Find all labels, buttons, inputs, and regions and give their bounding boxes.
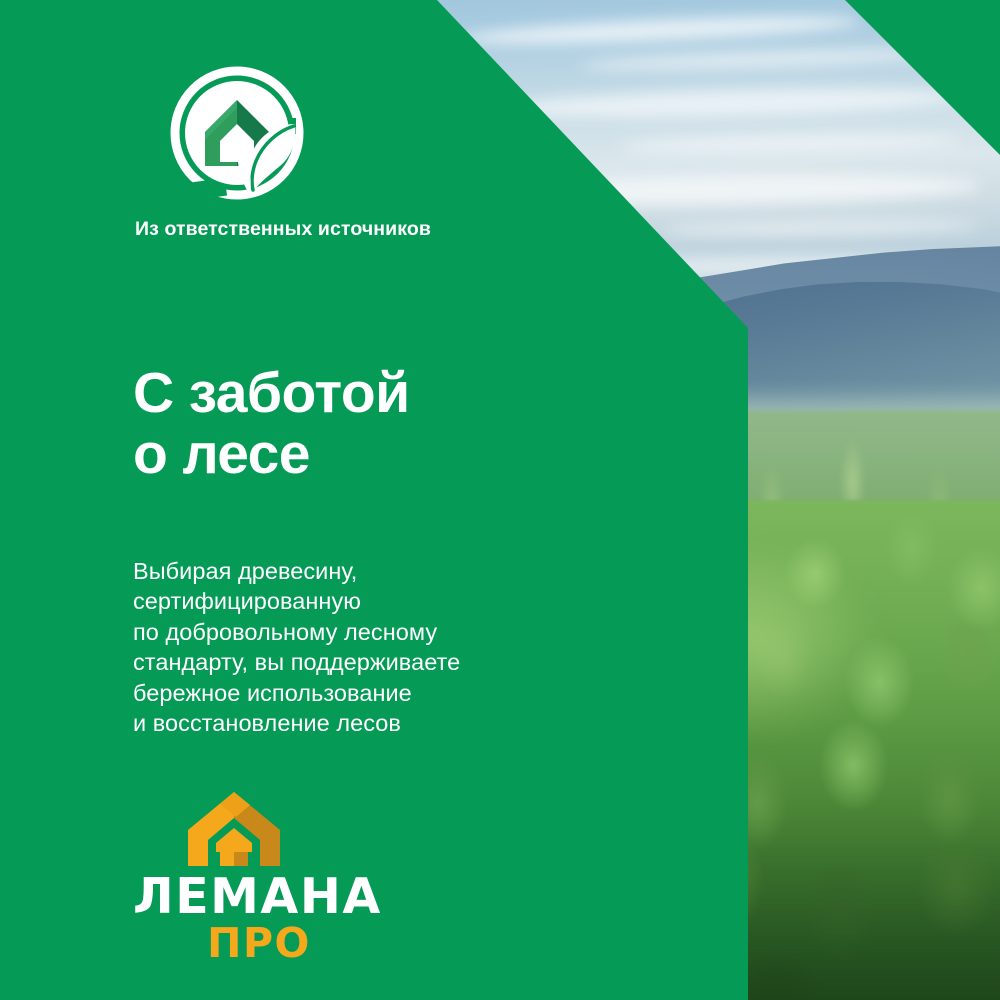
brand-lockup: ЛЕМАНА ПРО	[133, 790, 382, 964]
house-with-leaf-in-circle-icon	[166, 62, 308, 204]
body-text: Выбирая древесину, сертифицированную по …	[133, 556, 460, 739]
brand-name: ЛЕМАНА	[133, 872, 382, 921]
brand-suffix: ПРО	[173, 923, 345, 964]
certification-caption: Из ответственных источников	[133, 218, 433, 241]
poster-root: Из ответственных источников С заботой о …	[0, 0, 1000, 1000]
certification-badge: Из ответственных источников	[133, 62, 433, 241]
page-title: С заботой о лесе	[133, 363, 410, 485]
lemana-house-icon	[180, 790, 288, 868]
content-layer: Из ответственных источников С заботой о …	[0, 0, 1000, 1000]
